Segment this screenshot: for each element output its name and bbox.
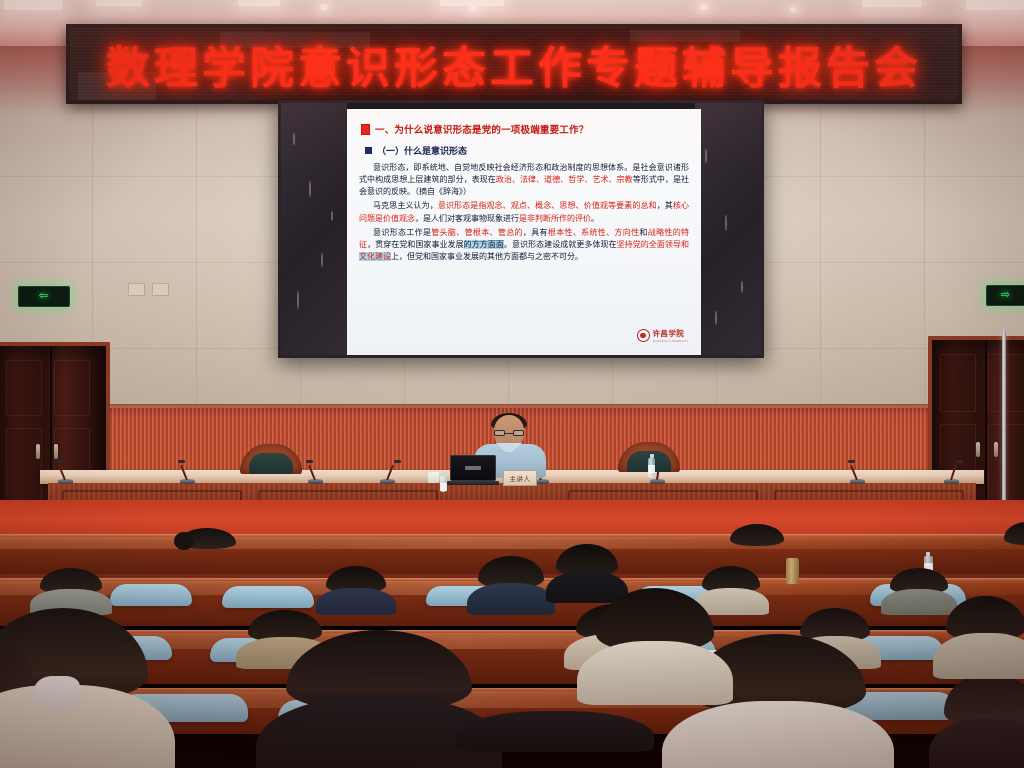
slide-subtitle: （一）什么是意识形态 [377,144,467,157]
ceiling-downlight [790,7,796,12]
led-banner-text: 数理学院意识形态工作专题辅导报告会 [70,28,958,100]
ceiling-light-panel [238,0,280,6]
door-handle[interactable] [976,442,980,457]
university-logo: 许昌学院 XUCHANG UNIVERSITY [637,328,689,343]
microphone[interactable] [180,462,202,484]
door-panel [54,360,90,416]
exit-arrow-icon: ⇦ [39,291,49,302]
audience-seat[interactable] [222,586,314,608]
slide-title-row: 一、为什么说意识形态是党的一项极端重要工作？ [361,122,691,136]
logo-name-cn: 许昌学院 [653,328,689,339]
logo-name-en: XUCHANG UNIVERSITY [653,340,689,343]
door-panel [6,428,42,506]
water-bottle[interactable] [440,476,447,492]
presentation-slide: 一、为什么说意识形态是党的一项极端重要工作？ （一）什么是意识形态 意识形态，即… [347,109,701,355]
projection-screen: 一、为什么说意识形态是党的一项极端重要工作？ （一）什么是意识形态 意识形态，即… [278,100,764,358]
audience-seat[interactable] [110,584,192,606]
microphone[interactable] [850,462,872,484]
door-handle[interactable] [994,442,998,457]
face-mask-holder [0,648,90,720]
ceiling-downlight [320,4,328,10]
water-bottle[interactable] [648,458,655,478]
ceiling-downlight [470,6,477,11]
microphone[interactable] [58,462,80,484]
audience-member [596,588,714,698]
slide-paragraph: 马克思主义认为，意识形态是指观念、观点、概念、思想、价值观等要素的总和，其核心问… [359,200,689,224]
audience-member [40,568,102,612]
slide-paragraph: 意识形态工作是管头脑、管根本、管总的，具有根本性、系统性、方向性和战略性的特征，… [359,227,689,263]
navy-square-bullet-icon [365,147,372,154]
slide-subtitle-row: （一）什么是意识形态 [365,144,691,157]
microphone[interactable] [308,462,330,484]
screen-letterbox-right [695,103,761,355]
conference-hall-photo: 数理学院意识形态工作专题辅导报告会 ⇦ ⇨ [0,0,1024,768]
ceiling-light-panel [966,0,1024,10]
audience-member-foreground [944,672,1024,768]
wall-switch-plate[interactable] [128,283,145,296]
door-handle[interactable] [54,444,58,459]
audience-member [946,596,1024,674]
laptop[interactable] [450,455,496,481]
face-mask [34,676,80,712]
microphone[interactable] [380,462,402,484]
audience-member-foreground [286,630,472,768]
exit-sign-right: ⇨ [986,285,1024,306]
door-panel [988,424,1024,504]
wall-switch-plate[interactable] [152,283,169,296]
door-panel [988,354,1024,412]
audience-member-foreground [480,704,630,768]
nameplate-text: 主讲人 [510,473,531,483]
slide-paragraph: 意识形态，即系统地、自觉地反映社会经济形态和政治制度的思想体系。是社会意识诸形式… [359,162,689,198]
screen-letterbox-left [281,103,347,355]
eyeglasses-icon [494,430,524,436]
exit-sign-left: ⇦ [18,286,70,307]
nameplate: 主讲人 [503,470,537,486]
ceiling-downlight [700,4,708,10]
exit-arrow-icon: ⇨ [1001,290,1011,301]
slide-title: 一、为什么说意识形态是党的一项极端重要工作？ [375,122,588,136]
audience-member [326,566,386,612]
seal-icon [637,329,650,342]
microphone[interactable] [944,462,966,484]
door-panel [940,354,976,412]
stage-chair[interactable] [240,444,302,478]
ceiling-light-panel [96,0,142,6]
ceiling-light-panel [862,0,922,7]
cup[interactable] [428,472,439,483]
audience-member [730,524,784,562]
audience-member [178,528,236,564]
red-square-bullet-icon [361,124,370,135]
ceiling-light-panel [4,0,62,10]
tumbler-cup[interactable] [786,558,799,584]
audience-member [478,556,544,612]
led-banner: 数理学院意识形态工作专题辅导报告会 [66,24,962,104]
audience-member [1004,522,1024,562]
audience-member [890,568,948,612]
door-handle[interactable] [36,444,40,459]
door-panel [6,360,42,416]
